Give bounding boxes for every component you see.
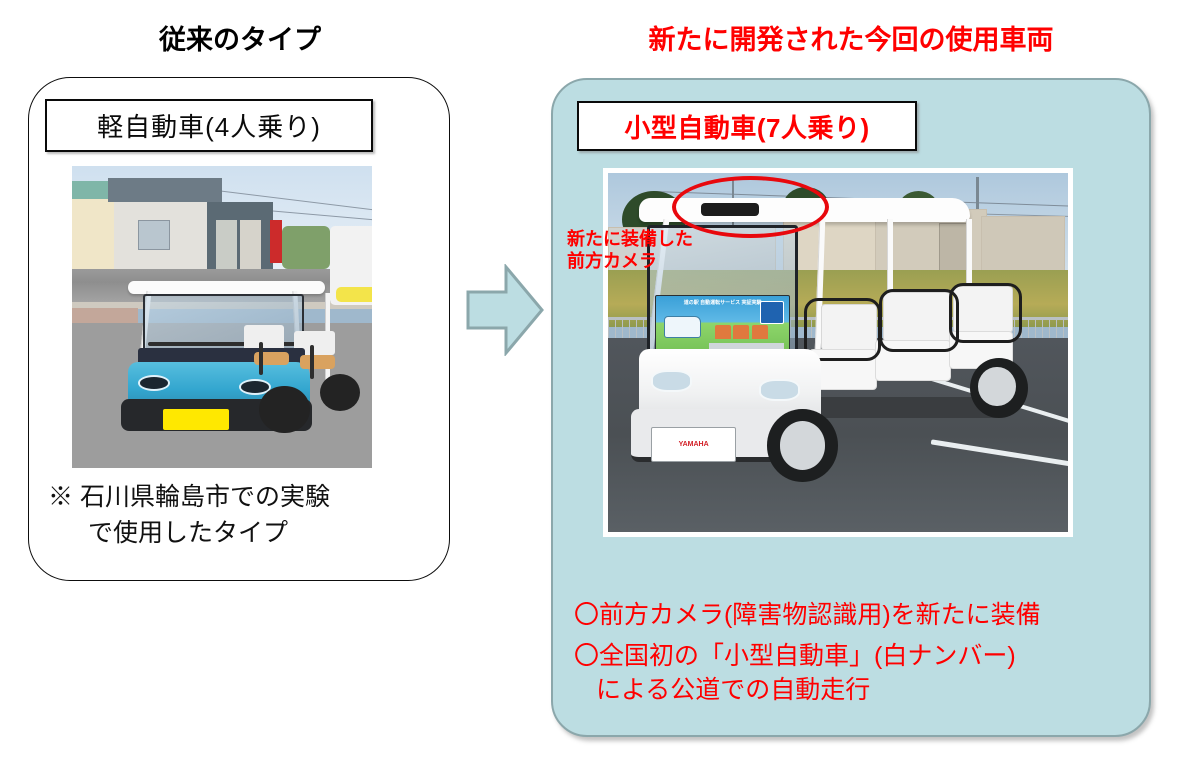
- cart-grab-bar: [310, 345, 314, 379]
- bullet-item-2-continuation: による公道での自動走行: [574, 673, 1144, 708]
- banner-illustration-house: [715, 325, 731, 339]
- window: [138, 220, 170, 249]
- banner-illustration-house: [733, 325, 749, 339]
- bullet-item-1: 〇前方カメラ(障害物認識用)を新たに装備: [574, 598, 1144, 633]
- cart-wheel-rear: [320, 374, 360, 411]
- label-box-compact-car: 小型自動車(7人乗り): [577, 101, 917, 151]
- camera-highlight-ellipse: [672, 176, 829, 238]
- banner-road-sign-icon: [760, 301, 783, 324]
- cart-grab-rail: [949, 283, 1021, 343]
- building-roof: [108, 178, 222, 202]
- caption-line-2: で使用したタイプ: [48, 516, 438, 552]
- banner-illustration-house: [752, 325, 768, 339]
- cart-license-plate-text: YAMAHA: [679, 441, 709, 448]
- camera-annotation-line1: 新たに装備した: [567, 229, 693, 249]
- bullet-item-2: 〇全国初の「小型自動車」(白ナンバー): [574, 639, 1144, 674]
- feature-bullet-list: 〇前方カメラ(障害物認識用)を新たに装備 〇全国初の「小型自動車」(白ナンバー)…: [574, 598, 1144, 708]
- page-title-right: 新たに開発された今回の使用車両: [551, 18, 1151, 57]
- cart-seat-cushion: [300, 355, 335, 369]
- label-box-kei-car-text: 軽自動車(4人乗り): [97, 107, 321, 144]
- camera-annotation: 新たに装備した 前方カメラ: [567, 229, 693, 273]
- banner-flag: [270, 220, 282, 262]
- label-box-compact-car-text: 小型自動車(7人乗り): [624, 108, 869, 145]
- cart-license-plate: [163, 409, 229, 429]
- cart-wheel-rim: [978, 367, 1015, 406]
- cart-license-plate: YAMAHA: [651, 427, 736, 462]
- vending-machine: [240, 220, 261, 268]
- transition-arrow: [466, 264, 544, 356]
- vehicle-blue-cart: [108, 281, 360, 450]
- side-banner: 道の駅 自動運転サービス 実証実験: [655, 295, 789, 354]
- cart-grab-bar: [259, 342, 263, 376]
- cart-side-skirt: [809, 397, 999, 418]
- caption-line-1: ※ 石川県輪島市での実験: [48, 483, 330, 511]
- tree-shrub: [282, 226, 330, 268]
- cart-wheel-front: [259, 386, 309, 433]
- vending-machine: [216, 220, 237, 268]
- cart-grab-rail: [804, 298, 880, 361]
- page-title-left: 従来のタイプ: [0, 18, 480, 57]
- cart-wheel-rim: [780, 421, 826, 469]
- label-box-kei-car: 軽自動車(4人乗り): [45, 99, 373, 152]
- arrow-right-icon: [466, 264, 544, 356]
- photo-new-vehicle: 道の駅 自動運転サービス 実証実験 YAMAHA: [603, 168, 1073, 537]
- cart-headlight-left: [651, 370, 692, 392]
- banner-illustration-bus: [664, 316, 700, 337]
- photo-conventional-vehicle: [72, 166, 372, 468]
- cart-headlight-right: [759, 379, 800, 401]
- caption-conventional-type: ※ 石川県輪島市での実験 で使用したタイプ: [48, 480, 438, 551]
- camera-annotation-line2: 前方カメラ: [567, 251, 657, 271]
- cart-grab-rail: [879, 289, 960, 352]
